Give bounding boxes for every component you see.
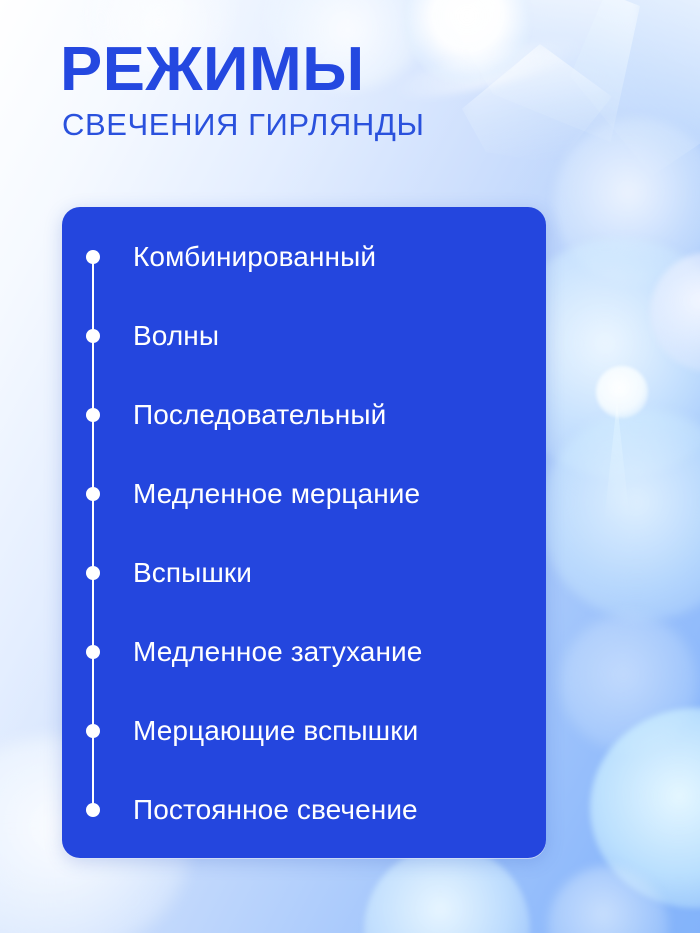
bullet-dot-icon: [86, 487, 100, 501]
bokeh-circle: [548, 866, 668, 933]
list-item-label: Постоянное свечение: [133, 796, 418, 824]
list-item-label: Медленное затухание: [133, 638, 422, 666]
list-item[interactable]: Волны: [62, 321, 546, 351]
bullet-dot-icon: [86, 250, 100, 264]
modes-card: КомбинированныйВолныПоследовательныйМедл…: [62, 207, 546, 858]
list-item-label: Волны: [133, 322, 219, 350]
bullet-dot-icon: [86, 645, 100, 659]
bokeh-circle: [596, 366, 648, 418]
bokeh-circle: [590, 708, 700, 908]
list-item[interactable]: Комбинированный: [62, 242, 546, 272]
page-title: РЕЖИМЫ: [60, 40, 432, 101]
bokeh-circle: [554, 118, 700, 284]
bokeh-circle: [560, 614, 698, 752]
list-item[interactable]: Медленное затухание: [62, 637, 546, 667]
modes-list: КомбинированныйВолныПоследовательныйМедл…: [62, 207, 546, 858]
bullet-dot-icon: [86, 566, 100, 580]
list-item[interactable]: Последовательный: [62, 400, 546, 430]
bokeh-circle: [364, 846, 530, 933]
bullet-dot-icon: [86, 408, 100, 422]
list-item-label: Вспышки: [133, 559, 252, 587]
bullet-dot-icon: [86, 724, 100, 738]
list-item-label: Медленное мерцание: [133, 480, 420, 508]
list-item-label: Мерцающие вспышки: [133, 717, 418, 745]
list-item-label: Последовательный: [133, 401, 386, 429]
bullet-dot-icon: [86, 329, 100, 343]
list-item[interactable]: Медленное мерцание: [62, 479, 546, 509]
list-item[interactable]: Мерцающие вспышки: [62, 716, 546, 746]
light-shard-icon: [462, 44, 612, 164]
light-streak-icon: [604, 402, 630, 522]
light-shard-icon: [430, 0, 640, 170]
list-item[interactable]: Постоянное свечение: [62, 795, 546, 825]
heading-block: РЕЖИМЫ СВЕЧЕНИЯ ГИРЛЯНДЫ: [60, 40, 425, 140]
bullet-dot-icon: [86, 803, 100, 817]
list-item[interactable]: Вспышки: [62, 558, 546, 588]
bokeh-circle: [650, 252, 700, 372]
page-subtitle: СВЕЧЕНИЯ ГИРЛЯНДЫ: [62, 109, 425, 140]
light-shard-icon: [560, 0, 700, 180]
bokeh-circle: [540, 410, 700, 620]
poster-canvas: РЕЖИМЫ СВЕЧЕНИЯ ГИРЛЯНДЫ Комбинированный…: [0, 0, 700, 933]
list-item-label: Комбинированный: [133, 243, 376, 271]
